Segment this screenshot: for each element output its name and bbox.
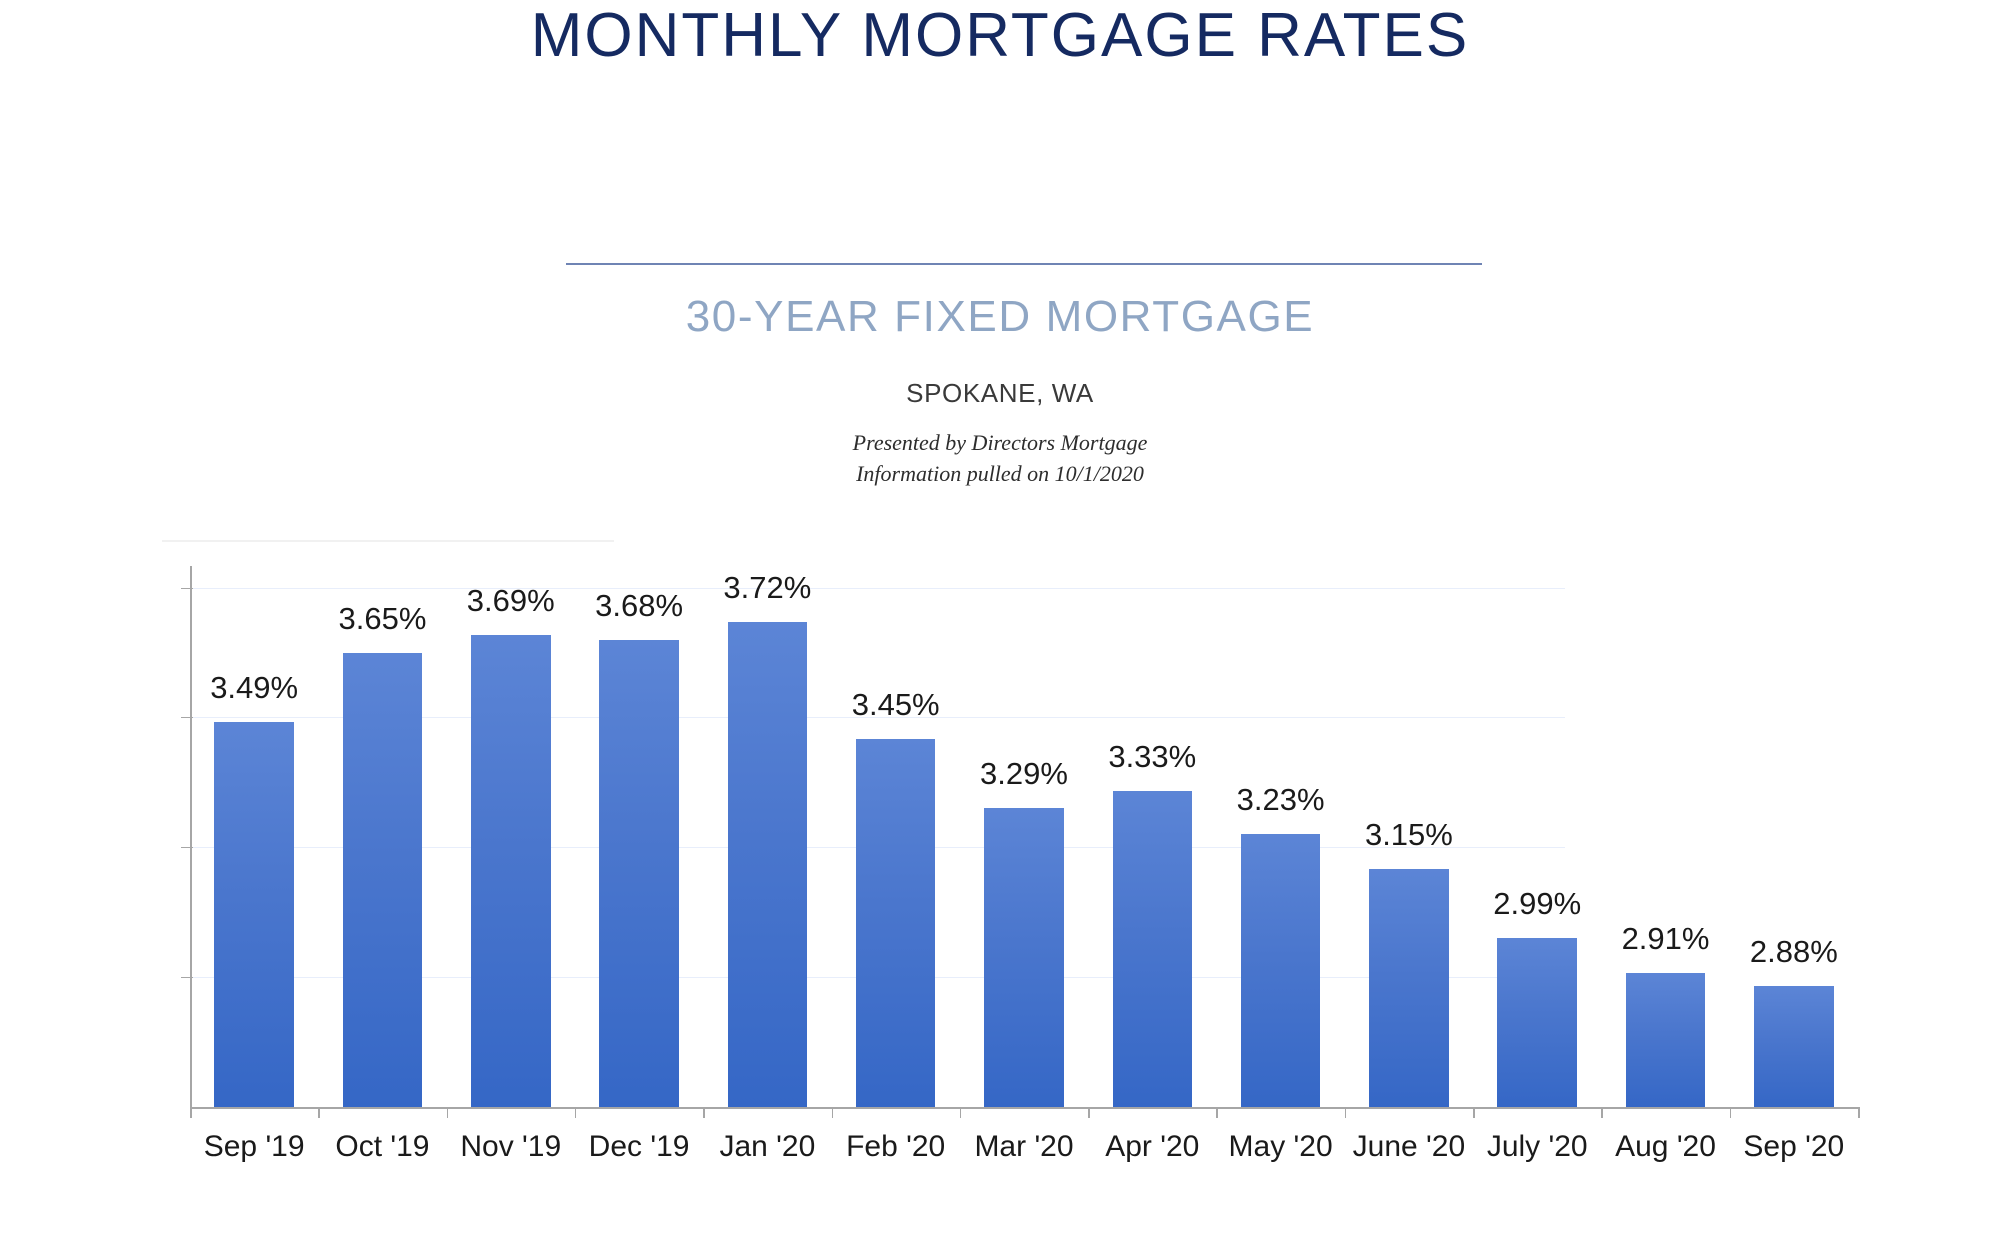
x-axis-line: [190, 1107, 1858, 1109]
bar-value-label: 3.15%: [1325, 817, 1493, 853]
bar-value-label: 2.99%: [1453, 886, 1621, 922]
x-axis-tick: [1730, 1107, 1732, 1118]
category-label: Dec '19: [575, 1130, 703, 1164]
category-label: June '20: [1345, 1130, 1473, 1164]
bar-value-label: 3.49%: [170, 670, 338, 706]
bar: [214, 722, 294, 1107]
bar-value-label: 3.33%: [1068, 739, 1236, 775]
bar: [1754, 986, 1834, 1107]
x-axis-tick: [960, 1107, 962, 1118]
bar-value-label: 3.45%: [812, 687, 980, 723]
y-axis-tick: [181, 977, 193, 978]
y-axis-tick: [181, 588, 193, 589]
category-label: Mar '20: [960, 1130, 1088, 1164]
category-label: Feb '20: [832, 1130, 960, 1164]
x-axis-tick: [318, 1107, 320, 1118]
bar: [856, 739, 936, 1107]
y-axis-line: [190, 566, 192, 1107]
bar: [1241, 834, 1321, 1107]
bar: [728, 622, 808, 1107]
bar: [471, 635, 551, 1107]
bar-value-label: 3.72%: [683, 570, 851, 606]
bar: [1626, 973, 1706, 1107]
y-axis-tick: [181, 717, 193, 718]
category-label: Sep '20: [1730, 1130, 1858, 1164]
decorative-rule: [162, 540, 614, 542]
bar: [599, 640, 679, 1107]
category-label: May '20: [1216, 1130, 1344, 1164]
x-axis-tick: [575, 1107, 577, 1118]
category-label: Jan '20: [703, 1130, 831, 1164]
category-label: Apr '20: [1088, 1130, 1216, 1164]
bar-value-label: 2.88%: [1710, 934, 1878, 970]
bar: [1497, 938, 1577, 1107]
category-label: Nov '19: [447, 1130, 575, 1164]
mortgage-rate-chart-slide: MONTHLY MORTGAGE RATES 30-YEAR FIXED MOR…: [0, 0, 2000, 1250]
bar-value-label: 3.23%: [1196, 782, 1364, 818]
x-axis-tick: [1858, 1107, 1860, 1118]
x-axis-tick: [1601, 1107, 1603, 1118]
x-axis-tick: [1216, 1107, 1218, 1118]
x-axis-tick: [447, 1107, 449, 1118]
y-axis-tick: [181, 847, 193, 848]
x-axis-tick: [703, 1107, 705, 1118]
category-label: July '20: [1473, 1130, 1601, 1164]
x-axis-tick: [190, 1107, 192, 1118]
bar: [1113, 791, 1193, 1107]
x-axis-tick: [832, 1107, 834, 1118]
bar: [984, 808, 1064, 1107]
bar: [1369, 869, 1449, 1107]
category-label: Aug '20: [1601, 1130, 1729, 1164]
bar: [343, 653, 423, 1107]
category-label: Sep '19: [190, 1130, 318, 1164]
bar-chart: 3.49%3.65%3.69%3.68%3.72%3.45%3.29%3.33%…: [0, 0, 2000, 1250]
x-axis-tick: [1345, 1107, 1347, 1118]
category-label: Oct '19: [318, 1130, 446, 1164]
x-axis-tick: [1088, 1107, 1090, 1118]
x-axis-tick: [1473, 1107, 1475, 1118]
gridline: [190, 588, 1565, 589]
